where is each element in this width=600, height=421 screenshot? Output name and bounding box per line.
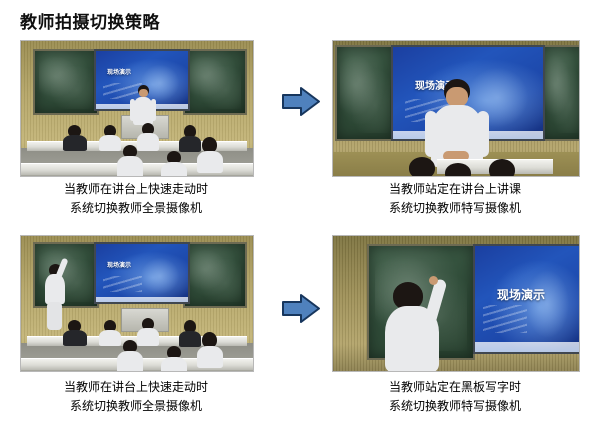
teacher-face [139, 89, 148, 97]
student-torso [197, 346, 223, 368]
student-figure [63, 320, 87, 342]
screen-stripes [483, 305, 527, 333]
blackboard-right [539, 45, 580, 141]
classroom-scene-wide: 现场演示 [21, 236, 253, 371]
student-torso [117, 351, 143, 372]
teacher-figure-writing [385, 278, 457, 371]
screen-stripes [103, 276, 142, 291]
caption-line-2: 系统切换教师特写摄像机 [332, 199, 578, 218]
caption-line-2: 系统切换教师全景摄像机 [20, 199, 252, 218]
blackboard-right [183, 242, 247, 308]
student-figure [197, 137, 223, 167]
page-title: 教师拍摄切换策略 [20, 8, 160, 33]
caption-top-left: 当教师在讲台上快速走动时 系统切换教师全景摄像机 [20, 180, 252, 218]
student-figure [63, 125, 87, 147]
caption-line-1: 当教师站定在黑板写字时 [332, 378, 578, 397]
student-figure [99, 320, 121, 342]
arrow-bottom [281, 292, 321, 325]
screen-taskbar [475, 342, 579, 352]
student-torso [161, 357, 187, 372]
student-head [445, 163, 471, 177]
screen-glow [139, 256, 180, 297]
screen-title-text: 现场演示 [107, 260, 131, 269]
arrow-right-icon [281, 85, 321, 118]
photo-top-left[interactable]: 现场演示 [20, 40, 254, 177]
caption-line-1: 当教师在讲台上快速走动时 [20, 180, 252, 199]
projector-screen: 现场演示 [473, 244, 580, 354]
screen-title-text: 现场演示 [497, 286, 545, 303]
classroom-scene-closeup: 现场演示 [333, 41, 579, 176]
arrow-right-icon [281, 292, 321, 325]
student-figure [99, 125, 121, 147]
caption-line-1: 当教师站定在讲台上讲课 [332, 180, 578, 199]
classroom-scene-wide: 现场演示 [21, 41, 253, 176]
classroom-scene-closeup: 现场演示 [333, 236, 579, 371]
photo-top-right[interactable]: 现场演示 [332, 40, 580, 177]
caption-bottom-right: 当教师站定在黑板写字时 系统切换教师特写摄像机 [332, 378, 578, 416]
student-figure [117, 145, 143, 173]
caption-line-2: 系统切换教师全景摄像机 [20, 397, 252, 416]
student-figure [137, 123, 159, 147]
teacher-raised-arm [423, 278, 447, 326]
teacher-arm-left [130, 99, 135, 121]
student-figure [117, 340, 143, 368]
student-torso [161, 162, 187, 177]
screen-title-text: 现场演示 [107, 67, 131, 76]
caption-bottom-left: 当教师在讲台上快速走动时 系统切换教师全景摄像机 [20, 378, 252, 416]
teacher-torso [45, 274, 65, 304]
student-figure [161, 151, 187, 177]
photo-bottom-left[interactable]: 现场演示 [20, 235, 254, 372]
teacher-hand [429, 276, 438, 285]
student-figure [137, 318, 159, 342]
teacher-arm-left [425, 111, 437, 157]
arrow-top [281, 85, 321, 118]
caption-line-1: 当教师在讲台上快速走动时 [20, 378, 252, 397]
teacher-raised-arm [55, 258, 68, 279]
caption-top-right: 当教师站定在讲台上讲课 系统切换教师特写摄像机 [332, 180, 578, 218]
blackboard-left [33, 49, 99, 115]
screen-taskbar [96, 297, 188, 302]
blackboard-right [183, 49, 247, 115]
caption-line-2: 系统切换教师特写摄像机 [332, 397, 578, 416]
student-torso [63, 135, 87, 151]
teacher-legs [47, 302, 62, 330]
student-torso [197, 151, 223, 173]
student-head [409, 157, 435, 177]
teacher-figure [425, 79, 489, 171]
student-torso [117, 156, 143, 177]
teacher-arm-right [151, 99, 156, 121]
student-head [489, 159, 515, 177]
screen-glow [524, 267, 571, 341]
student-figure [197, 332, 223, 362]
blackboard-left [335, 45, 395, 141]
projector-screen: 现场演示 [94, 242, 190, 304]
photo-bottom-right[interactable]: 现场演示 [332, 235, 580, 372]
teacher-arm-right [477, 111, 489, 157]
teacher-torso [133, 97, 153, 125]
teacher-face [446, 87, 468, 107]
student-torso [63, 330, 87, 346]
student-figure [161, 346, 187, 372]
